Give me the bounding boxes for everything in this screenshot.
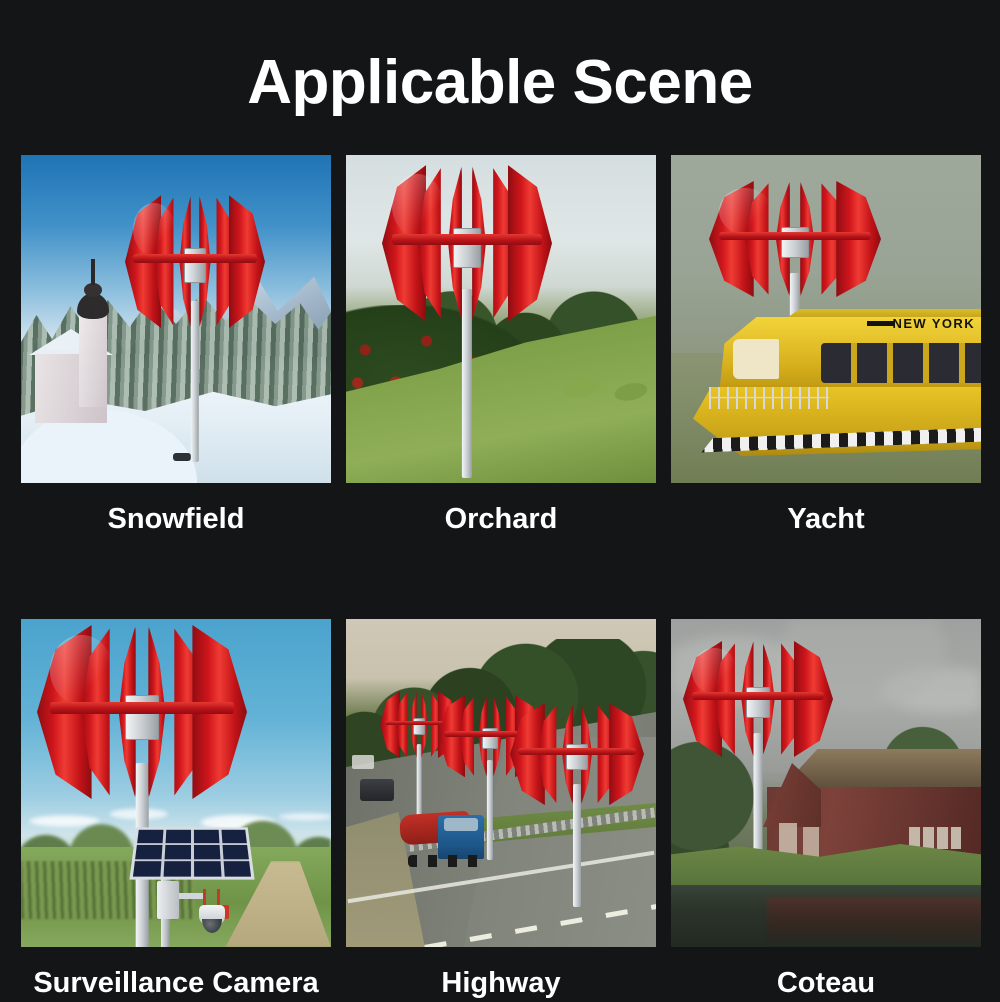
distant-vehicle bbox=[352, 755, 374, 769]
barn-reflection bbox=[767, 897, 981, 947]
barn-window bbox=[909, 827, 961, 849]
turbine-hub-bar bbox=[719, 232, 870, 240]
scene-caption-yacht: Yacht bbox=[671, 483, 981, 534]
camera-arm bbox=[179, 893, 205, 899]
scene-image-surveillance-camera bbox=[21, 619, 331, 947]
turbine-hub-bar bbox=[50, 702, 235, 714]
truck-wheels bbox=[408, 855, 482, 867]
scene-image-orchard bbox=[346, 155, 656, 483]
truck-windshield bbox=[444, 818, 478, 831]
wind-turbine bbox=[382, 165, 552, 435]
turbine-rotor bbox=[510, 703, 644, 805]
scene-grid: Snowfield bbox=[21, 155, 981, 998]
page-title: Applicable Scene bbox=[0, 0, 1000, 114]
scene-image-snowfield bbox=[21, 155, 331, 483]
car bbox=[173, 453, 191, 461]
scene-caption-coteau: Coteau bbox=[671, 947, 981, 998]
applicable-scene-page: Applicable Scene bbox=[0, 0, 1000, 1002]
scene-image-highway bbox=[346, 619, 656, 947]
turbine-hub-bar bbox=[518, 748, 636, 755]
turbine-hub-bar bbox=[692, 692, 824, 700]
controller-box bbox=[157, 881, 179, 919]
turbine-rotor bbox=[382, 165, 552, 322]
wind-turbine bbox=[37, 625, 247, 925]
barn-door bbox=[803, 827, 819, 857]
church-tower bbox=[79, 311, 107, 407]
boat-name-text: NEW YORK bbox=[893, 316, 975, 331]
turbine-rotor bbox=[709, 181, 881, 297]
boat-railing bbox=[709, 387, 829, 409]
scene-caption-orchard: Orchard bbox=[346, 483, 656, 534]
scene-cell-yacht: NEW YORK Yacht bbox=[671, 155, 981, 534]
turbine-rotor bbox=[37, 625, 247, 799]
boat-bow-window bbox=[733, 339, 779, 379]
scene-caption-highway: Highway bbox=[346, 947, 656, 998]
scene-cell-highway: Highway bbox=[346, 619, 656, 998]
wind-turbine bbox=[510, 703, 644, 879]
scene-cell-snowfield: Snowfield bbox=[21, 155, 331, 534]
turbine-hub-bar bbox=[133, 254, 256, 263]
boat-dash-mark bbox=[867, 321, 895, 326]
scene-caption-surveillance-camera: Surveillance Camera bbox=[21, 947, 331, 998]
scene-cell-coteau: Coteau bbox=[671, 619, 981, 998]
turbine-rotor bbox=[125, 195, 265, 328]
boat-windows bbox=[821, 343, 981, 383]
solar-panel bbox=[129, 827, 254, 879]
church-dome-top bbox=[84, 283, 102, 297]
church-spire bbox=[91, 259, 95, 285]
distant-truck bbox=[360, 779, 394, 801]
scene-cell-orchard: Orchard bbox=[346, 155, 656, 534]
scene-caption-snowfield: Snowfield bbox=[21, 483, 331, 534]
wind-turbine bbox=[125, 195, 265, 425]
scene-image-coteau bbox=[671, 619, 981, 947]
turbine-rotor bbox=[683, 641, 833, 757]
turbine-hub-bar bbox=[392, 234, 542, 245]
scene-cell-surveillance-camera: Surveillance Camera bbox=[21, 619, 331, 998]
scene-image-yacht: NEW YORK bbox=[671, 155, 981, 483]
